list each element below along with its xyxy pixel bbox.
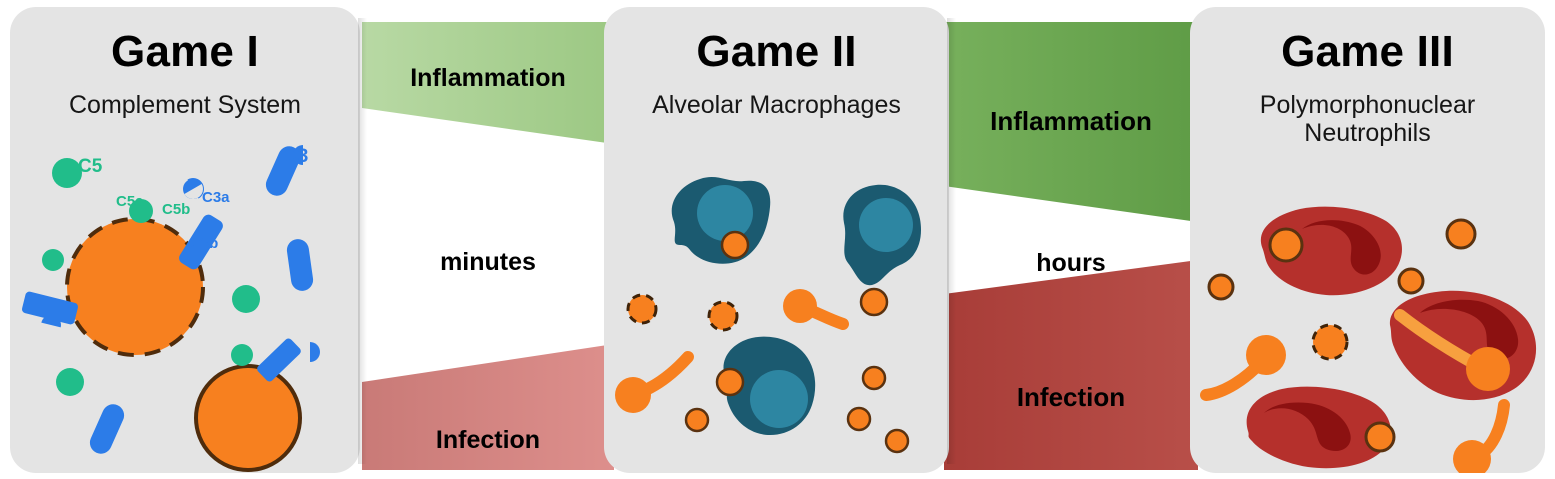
flagellated-bacterium-a [1206,335,1286,395]
macrophage-2-engulfed-bacterium [861,289,887,315]
transition-panel-1: Inflammation minutes Infection [362,22,614,470]
flagellated-bacterium-b [1453,405,1504,473]
c3-rod-2 [285,238,314,293]
c3a-halfmoon-3 [310,342,320,362]
card-1-edge-shadow [358,18,367,464]
card-2-edge-shadow [947,18,956,464]
bacterium-large-solid [196,366,300,470]
flagellated-bacterium-2 [615,357,688,413]
bacterium-dashed-1 [628,295,656,323]
neutrophil-2 [1390,291,1536,400]
macrophage-3-engulfed-bacterium [717,369,743,395]
c5-circle-4 [56,368,84,396]
transition-panel-2: Inflammation hours Infection [944,22,1198,470]
neutrophil-3 [1247,387,1394,469]
bacterium-solid-2 [863,367,885,389]
inflammation-wedge-1 [362,22,614,144]
label-c3: C3 [284,146,308,167]
neutrophil-1-engulfed-bacterium [1270,229,1302,261]
macrophage-2-nucleus [859,198,913,252]
c5-circle-5 [231,344,253,366]
macrophage-1-nucleus [697,185,753,241]
neutrophil-2-engulfed-bacterium [1466,347,1510,391]
bacterium-solid-3 [848,408,870,430]
bacterium-solid-4 [886,430,908,452]
inflammation-wedge-2 [944,22,1198,222]
bacterium-solid-a [1447,220,1475,248]
game-3-card[interactable]: Game III Polymorphonuclear Neutrophils [1190,7,1545,473]
transition-1-wedges [362,22,614,470]
flagellated-bacterium-1 [783,289,843,324]
label-c3a: C3a [202,189,230,206]
infection-wedge-2 [944,260,1198,470]
neutrophil-1 [1261,207,1402,296]
game-1-card[interactable]: Game I Complement System [10,7,360,473]
game-1-scene: C5 C5a C5b C3 C3a C3b [10,7,360,473]
c5-circle-3 [232,285,260,313]
macrophage-1 [672,177,771,264]
figure-root: Inflammation minutes Infection Inflammat… [0,0,1555,479]
label-c5: C5 [78,156,103,177]
transition-2-mid-label: hours [944,249,1198,278]
transition-2-wedges [944,22,1198,470]
bacterium-large-dashed [67,219,203,355]
label-c3b: C3b [190,235,218,252]
game-3-scene [1190,7,1545,473]
c5-circle-2 [42,249,64,271]
label-c5a: C5a [116,193,144,210]
bacterium-dashed-2 [709,302,737,330]
macrophage-3-nucleus [750,370,808,428]
macrophage-3 [717,337,815,435]
infection-wedge-1 [362,344,614,470]
bacterium-solid-1 [686,409,708,431]
c3-rod-4 [86,401,127,457]
bacterium-solid-b [1209,275,1233,299]
game-2-scene [604,7,949,473]
macrophage-1-engulfed-bacterium [722,232,748,258]
neutrophil-3-engulfed-bacterium [1366,423,1394,451]
label-c5b: C5b [162,201,190,218]
game-2-card[interactable]: Game II Alveolar Macrophages [604,7,949,473]
transition-1-mid-label: minutes [362,248,614,277]
bacterium-dashed-a [1313,325,1347,359]
bacterium-solid-c [1399,269,1423,293]
macrophage-2 [843,185,921,315]
